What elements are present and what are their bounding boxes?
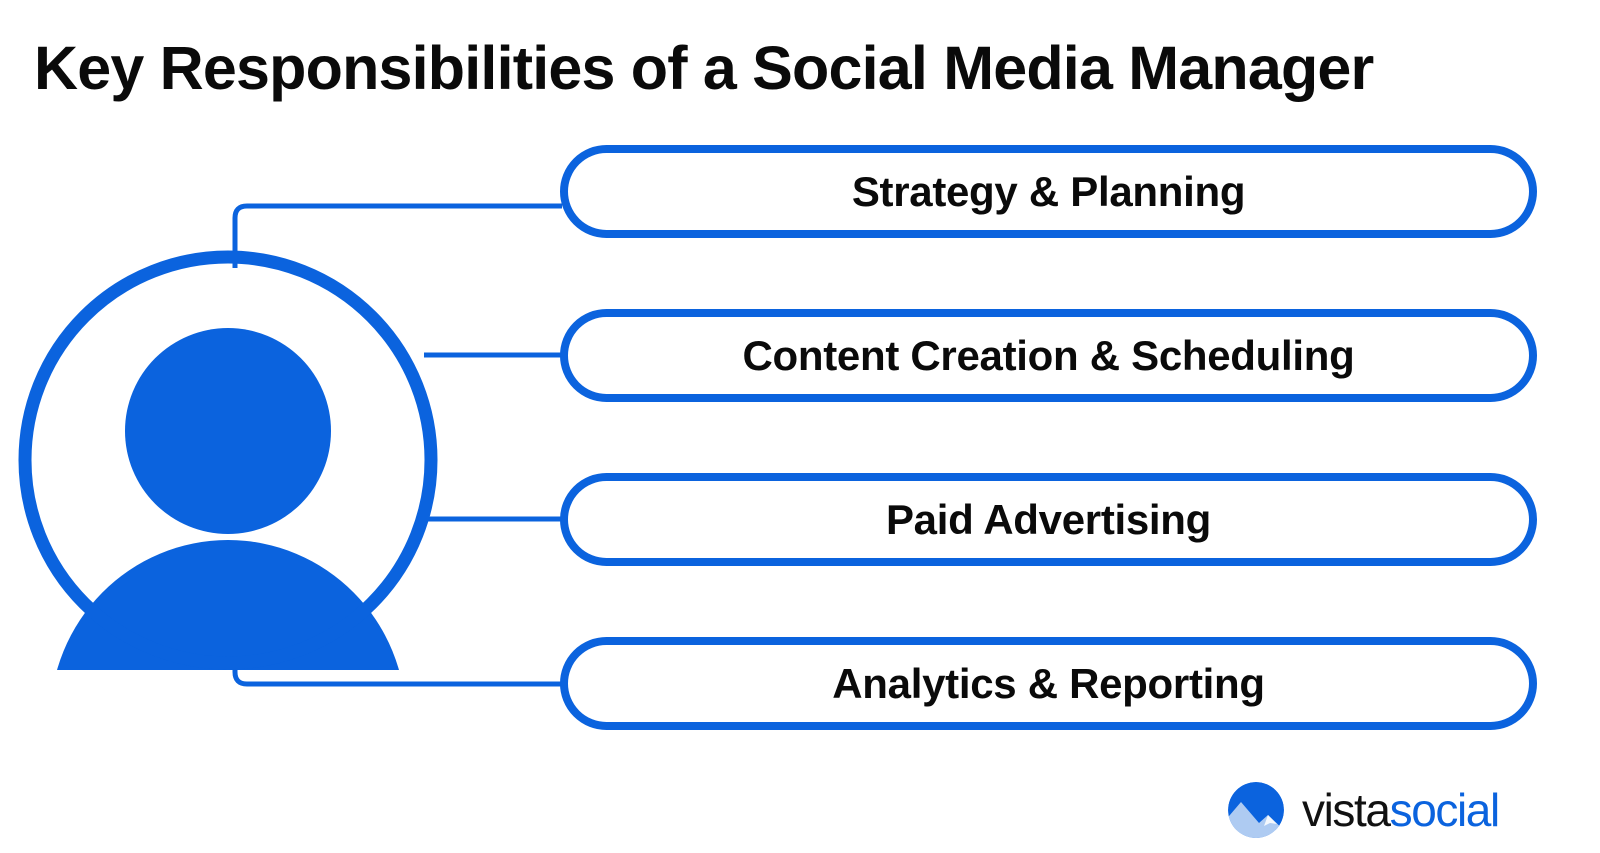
avatar-head-shape [125, 328, 331, 534]
person-avatar-icon [12, 250, 444, 670]
brand-wordmark: vistasocial [1302, 787, 1499, 833]
responsibility-pill[interactable]: Content Creation & Scheduling [560, 309, 1537, 402]
responsibility-label: Content Creation & Scheduling [743, 335, 1355, 377]
brand-logo: vistasocial [1228, 779, 1499, 841]
responsibility-pill[interactable]: Strategy & Planning [560, 145, 1537, 238]
brand-name-secondary: social [1390, 784, 1499, 836]
responsibility-pill[interactable]: Paid Advertising [560, 473, 1537, 566]
avatar-body-shape [50, 540, 406, 670]
infographic-canvas: Key Responsibilities of a Social Media M… [0, 0, 1600, 853]
vista-social-mountain-icon [1228, 782, 1284, 838]
responsibility-label: Paid Advertising [886, 499, 1211, 541]
brand-name-primary: vista [1302, 784, 1390, 836]
responsibility-label: Strategy & Planning [852, 171, 1245, 213]
responsibility-pill[interactable]: Analytics & Reporting [560, 637, 1537, 730]
responsibility-label: Analytics & Reporting [832, 663, 1264, 705]
